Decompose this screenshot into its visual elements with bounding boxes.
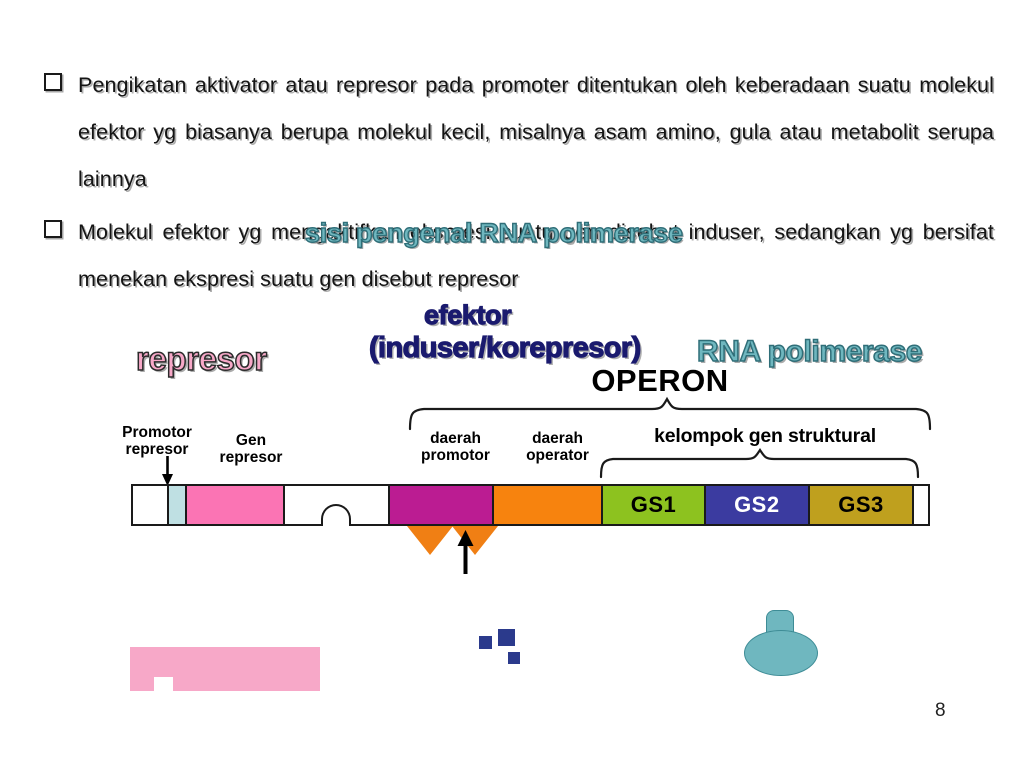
promotor-represor-arrow-icon [161, 456, 174, 486]
effector-square-icon [479, 636, 492, 649]
gene-segment-daerah-operator [492, 486, 602, 524]
rna-polymerase-site-arrow-icon [457, 530, 474, 574]
rna-polymerase-body-icon [744, 630, 818, 676]
gene-segment-gen-represor [185, 486, 283, 524]
label-sisi-pengenal-rna-polimerase: sisi pengenal RNA polimerase [305, 218, 683, 249]
operon-brace-icon [410, 399, 930, 429]
legend-label-rna-polimerase: RNA polimerase [697, 335, 922, 369]
gene-segment-gen-struktural-2: GS2 [704, 486, 808, 524]
checkbox-bullet-icon [44, 73, 62, 91]
repressor-shape-notch [154, 677, 173, 691]
gene-segment-gen-struktural-3: GS3 [808, 486, 912, 524]
structural-genes-brace-icon [601, 450, 918, 477]
legend-label-efektor-sub: (induser/korepresor) [369, 332, 641, 365]
effector-square-icon [508, 652, 520, 664]
gene-segment-leading-white [133, 486, 167, 524]
gene-segment-gen-struktural-1: GS1 [601, 486, 704, 524]
gene-segment-label: GS3 [838, 492, 884, 518]
gene-segment-label: GS2 [734, 492, 780, 518]
bullet-list: Pengikatan aktivator atau represor pada … [44, 62, 994, 309]
gene-bar: GS1GS2GS3 [131, 484, 930, 526]
checkbox-bullet-icon [44, 220, 62, 238]
gene-segment-trailing-white [912, 486, 928, 524]
gene-segment-promotor-represor [167, 486, 185, 524]
bullet-text-1: Pengikatan aktivator atau represor pada … [78, 62, 994, 203]
list-item: Pengikatan aktivator atau represor pada … [44, 62, 994, 203]
operator-triangle-icon [407, 526, 453, 555]
notch-base-cover [323, 522, 349, 528]
legend-label-represor: represor [136, 340, 267, 378]
gene-segment-daerah-promotor [388, 486, 491, 524]
page-number: 8 [935, 700, 946, 722]
gene-segment-label: GS1 [631, 492, 677, 518]
effector-square-icon [498, 629, 515, 646]
operon-diagram: OPERON Promotor represor Gen represor da… [0, 352, 1024, 642]
legend-label-efektor: efektor [424, 300, 511, 331]
